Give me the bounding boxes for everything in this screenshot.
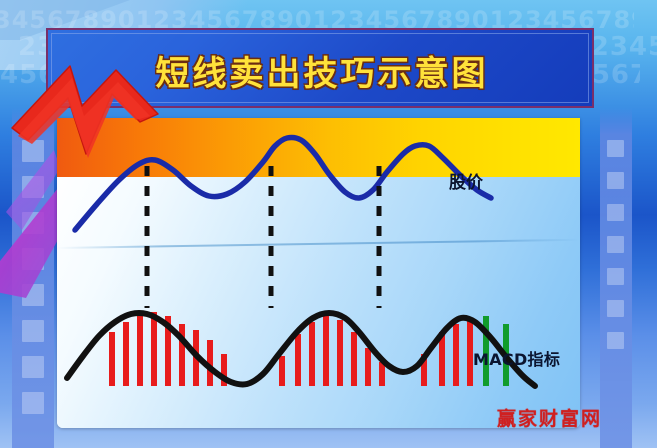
macd-histogram-bar xyxy=(351,332,357,386)
macd-histogram-bar xyxy=(137,316,143,386)
red-zigzag-arrow xyxy=(8,58,168,178)
macd-series-label: MACD指标 xyxy=(473,346,560,370)
macd-histogram-bar xyxy=(309,322,315,386)
sell-signal-dashed-lines xyxy=(147,166,379,308)
macd-histogram-bar xyxy=(337,320,343,386)
macd-histogram-bar xyxy=(365,348,371,386)
price-series-label: 股价 xyxy=(449,168,483,193)
macd-histogram-bar xyxy=(279,356,285,386)
slide-root: 3456789012345678901234567890123456789012… xyxy=(0,0,657,448)
macd-histogram-bar xyxy=(123,322,129,386)
macd-histogram-bar xyxy=(453,324,459,386)
macd-histogram-bar xyxy=(295,334,301,386)
macd-histogram-bar xyxy=(323,316,329,386)
film-strip-right xyxy=(600,0,632,448)
macd-histogram-bar xyxy=(151,312,157,386)
site-watermark: 赢家财富网 xyxy=(497,404,602,431)
macd-histogram-bar xyxy=(109,332,115,386)
